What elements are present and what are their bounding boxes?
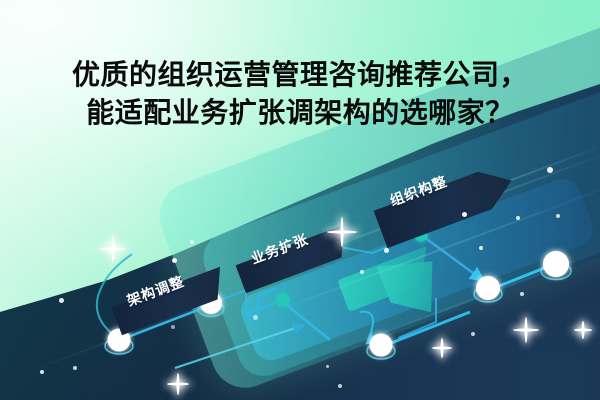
circuit-path-jA-n2 bbox=[283, 302, 330, 340]
sparkle-dot bbox=[59, 298, 64, 303]
star-sparkle bbox=[442, 348, 462, 368]
sparkle-dot bbox=[462, 212, 467, 217]
circuit-arrow-middle bbox=[175, 325, 304, 368]
star-sparkle bbox=[113, 249, 139, 275]
circuit-path-n2-n3 bbox=[386, 312, 470, 345]
star-sparkle bbox=[583, 330, 600, 348]
sparkle-dot bbox=[547, 167, 553, 173]
poster-canvas: 架构调整 业务扩张 组织构整 优质的组织运营管理咨询推荐公司， 能适配业务扩张调… bbox=[0, 0, 600, 400]
title-line-2: 能适配业务扩张调架构的选哪家？ bbox=[0, 94, 600, 132]
sparkle-dot bbox=[172, 258, 177, 263]
sparkle-dot bbox=[171, 325, 175, 329]
circuit-node-4 bbox=[541, 251, 571, 280]
sparkle-dot bbox=[556, 214, 560, 218]
sparkle-dot bbox=[520, 292, 524, 296]
sparkle-dot bbox=[516, 216, 520, 220]
sparkle-dot bbox=[338, 384, 342, 388]
sparkle-dot bbox=[253, 315, 258, 320]
circuit-node-3 bbox=[474, 276, 502, 302]
sparkle-dot bbox=[384, 248, 389, 253]
sparkle-dot bbox=[479, 246, 483, 250]
circuit-junction-a bbox=[277, 294, 290, 307]
circuit-path-jB-n3 bbox=[424, 237, 484, 281]
sparkle-dot bbox=[73, 366, 77, 370]
sparkle-dot bbox=[326, 365, 329, 368]
sparkle-dot bbox=[287, 244, 291, 248]
sparkle-dot bbox=[471, 332, 475, 336]
star-sparkle bbox=[342, 232, 372, 262]
sparkle-dot bbox=[360, 270, 364, 274]
star-sparkle bbox=[178, 384, 200, 400]
poster-title: 优质的组织运营管理咨询推荐公司， 能适配业务扩张调架构的选哪家？ bbox=[0, 56, 600, 132]
title-line-1: 优质的组织运营管理咨询推荐公司， bbox=[0, 56, 600, 94]
sparkle-dot bbox=[40, 370, 44, 374]
sparkle-dot bbox=[190, 240, 194, 244]
star-sparkle bbox=[526, 330, 552, 356]
